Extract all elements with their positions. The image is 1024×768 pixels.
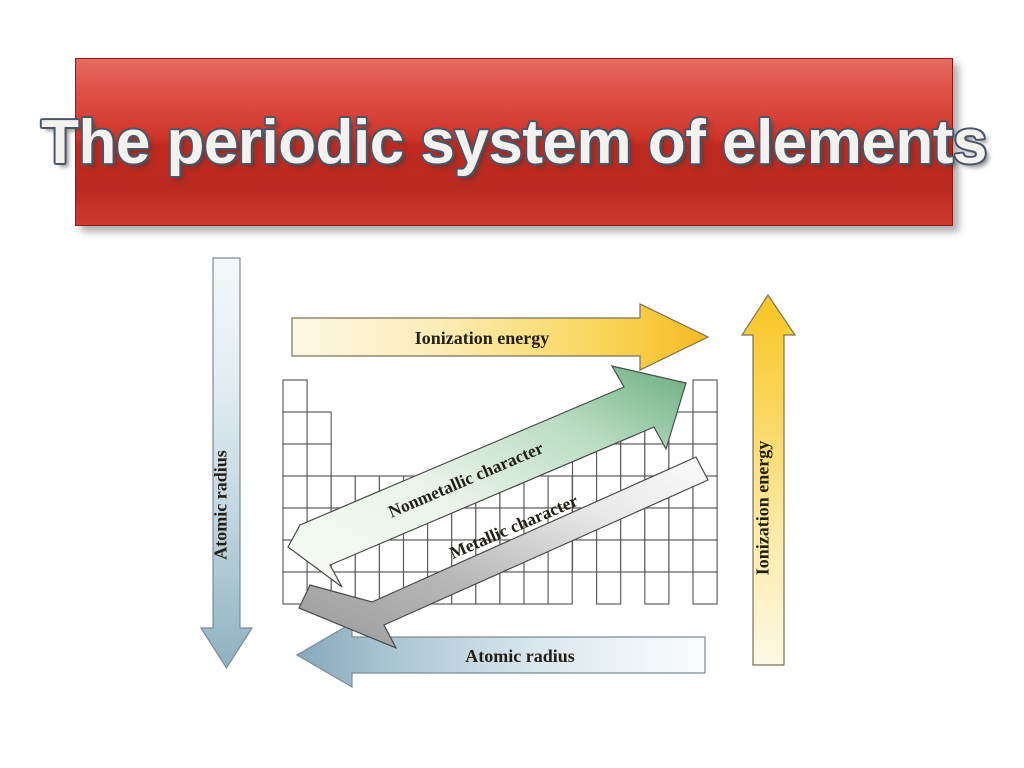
page-title: The periodic system of elements: [41, 107, 987, 178]
arrow-atomic-radius-left: Atomic radius: [201, 258, 252, 668]
arrow-label-ionization-energy-top: Ionization energy: [415, 328, 550, 348]
arrow-ionization-energy-right: Ionization energy: [742, 295, 795, 665]
arrow-label-atomic-radius-bottom: Atomic radius: [465, 646, 575, 666]
title-banner: The periodic system of elements: [75, 58, 953, 226]
arrow-ionization-energy-top: Ionization energy: [292, 304, 708, 370]
arrow-label-ionization-energy-right: Ionization energy: [753, 441, 773, 576]
periodic-trends-diagram: Atomic radius Ionization energy Ionizati…: [0, 240, 1024, 700]
arrow-label-atomic-radius-left: Atomic radius: [211, 450, 231, 560]
